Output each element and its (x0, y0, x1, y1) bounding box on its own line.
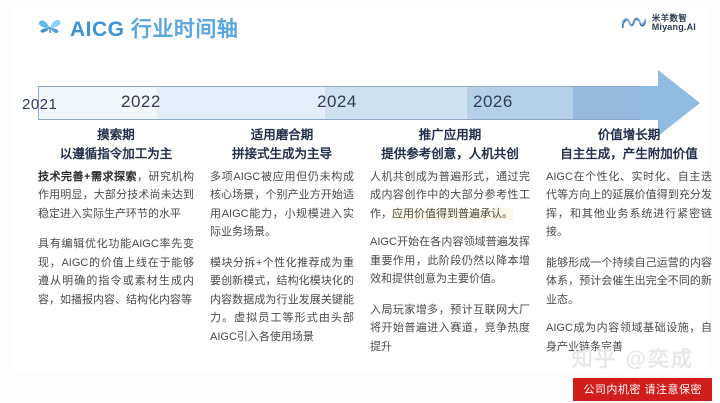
phase-title: 推广应用期 (370, 126, 530, 144)
phase-paragraph: 入局玩家增多，预计互联网大厂将开始普遍进入赛道，竞争热度提升 (370, 301, 530, 356)
timeline-year-2021: 2021 (22, 96, 57, 113)
phase-columns: 摸索期 以遵循指令加工为主 技术完善+需求探索，研究机构作用明显，大部分技术尚未… (0, 126, 720, 366)
phase-subtitle: 提供参考创意，人机共创 (370, 145, 530, 164)
butterfly-icon (38, 17, 62, 39)
timeline-year-2022: 2022 (121, 92, 161, 112)
phase-column-4: 价值增长期 自主生成，产生附加价值 AIGC在个性化、实时化、自主迭代等方向上的… (538, 126, 720, 366)
phase-column-3: 推广应用期 提供参考创意，人机共创 人机共创成为普遍形式，通过完成内容创作中的大… (362, 126, 538, 366)
phase-paragraph: 技术完善+需求探索，研究机构作用明显，大部分技术尚未达到稳定进入实际生产环节的水… (38, 168, 194, 223)
phase-subtitle: 以遵循指令加工为主 (38, 145, 194, 164)
phase-paragraph-lead: 技术完善+需求探索 (38, 171, 137, 183)
logo-text: 米羊数智 Miyang.AI (652, 14, 696, 32)
timeline-segment-2 (157, 87, 325, 119)
slide-canvas: AICG 行业时间轴 米羊数智 Miyang.AI 2021 (0, 0, 720, 403)
phase-title: 价值增长期 (546, 126, 712, 144)
phase-column-2: 适用磨合期 拼接式生成为主导 多项AIGC被应用但仍未构成核心场景，个别产业方开… (202, 126, 362, 366)
phase-paragraph: AIGC在个性化、实时化、自主迭代等方向上的延展价值得到充分发挥，和其他业务系统… (546, 168, 712, 242)
phase-title: 摸索期 (38, 126, 194, 144)
timeline-year-2026: 2026 (473, 92, 513, 112)
phase-column-1: 摸索期 以遵循指令加工为主 技术完善+需求探索，研究机构作用明显，大部分技术尚未… (30, 126, 202, 366)
zhihu-watermark: 知乎 @奕成 (572, 343, 694, 373)
phase-paragraph: 多项AIGC被应用但仍未构成核心场景，个别产业方开始适用AIGC能力，小规模进入… (210, 168, 354, 242)
phase-title: 适用磨合期 (210, 126, 354, 144)
phase-paragraph: 模块分拆+个性化推荐成为重要创新模式，结构化模块化的内容数据成为行业发展关键能力… (210, 254, 354, 346)
confidential-banner: 公司内机密 请注意保密 (573, 378, 712, 401)
page-title-cn: 行业时间轴 (131, 18, 239, 41)
company-logo: 米羊数智 Miyang.AI (621, 14, 696, 32)
wave-logo-icon (621, 15, 647, 31)
phase-paragraph: 人机共创成为普遍形式，通过完成内容创作中的大部分参考性工作，应用价值得到普遍承认… (370, 168, 530, 223)
phase-paragraph: 能够形成一个持续自己运营的内容体系，预计会催生出完全不同的新业态。 (546, 254, 712, 309)
phase-paragraph: 具有编辑优化功能AIGC率先变现，AIGC的价值上线在于能够遵从明确的指令或素材… (38, 235, 194, 309)
logo-name-en: Miyang.AI (652, 23, 696, 32)
phase-paragraph-highlight: 应用价值得到普遍承认。 (392, 208, 513, 220)
page-title-en: AICG (70, 18, 125, 41)
phase-paragraph: AIGC开始在各内容领域普遍发挥重要作用，此阶段仍然以降本增效和提供创意为主要价… (370, 233, 530, 288)
phase-subtitle: 拼接式生成为主导 (210, 145, 354, 164)
timeline-arrow-neck (640, 86, 660, 120)
page-title: AICG 行业时间轴 (70, 13, 238, 43)
brand: AICG 行业时间轴 (38, 13, 238, 43)
timeline-year-2024: 2024 (317, 92, 357, 112)
slide-header: AICG 行业时间轴 米羊数智 Miyang.AI (0, 0, 720, 48)
phase-subtitle: 自主生成，产生附加价值 (546, 145, 712, 164)
